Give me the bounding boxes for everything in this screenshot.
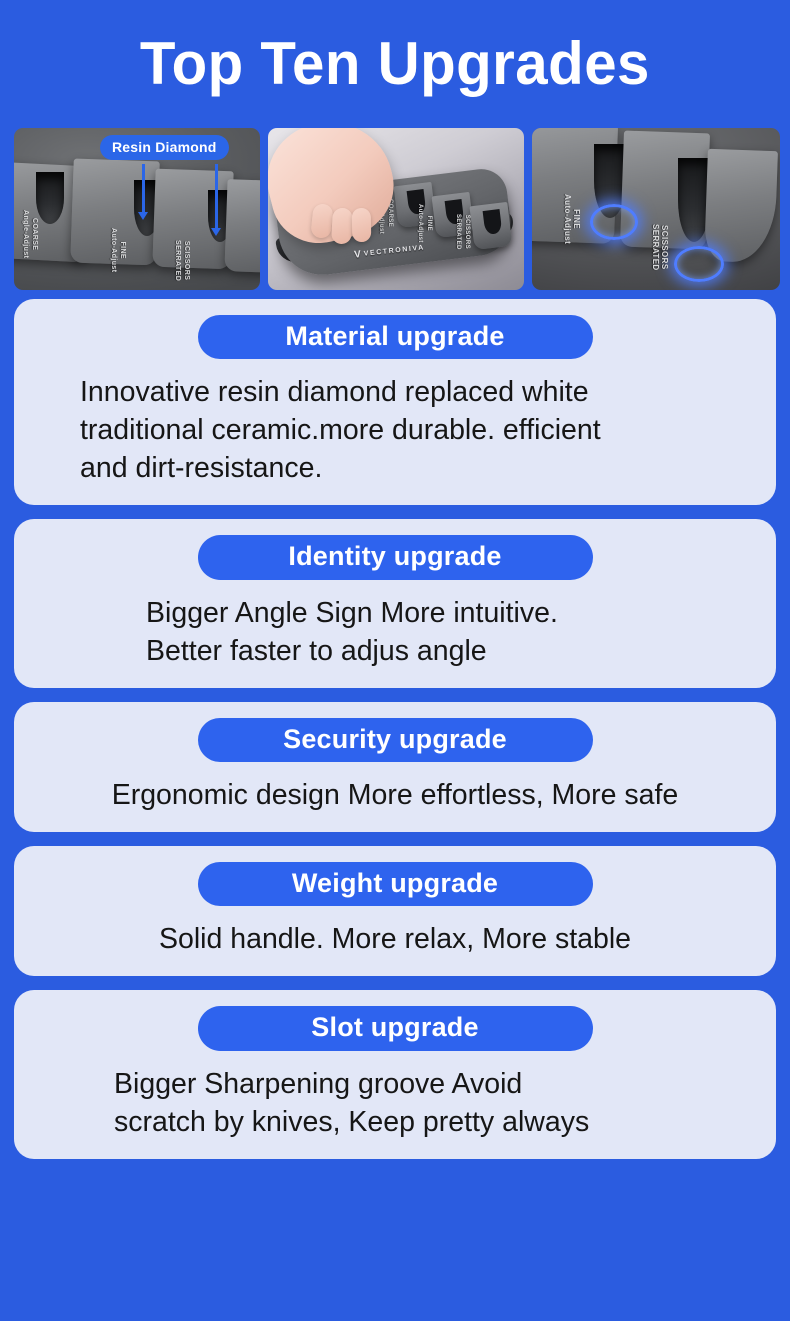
slot-glow-ring [590,204,638,240]
finger [352,208,372,242]
slot-label-fine: FINE Auto-Adjust [109,228,126,272]
upgrade-card-slot: Slot upgrade Bigger Sharpening groove Av… [14,990,776,1158]
photo-slot-closeup: COARSE Angle-Adjust FINE Auto-Adjust SCI… [14,128,260,290]
slot-label-fine: FINE Auto-Adjust [563,194,580,244]
slot-label-scissors: SCISSORS SERRATED [651,224,668,271]
slot-label-fine: FINE Auto-Adjust [416,204,433,243]
badge-pointer-line [142,164,145,216]
upgrade-card-identity: Identity upgrade Bigger Angle Sign More … [14,519,776,687]
card-body-identity: Bigger Angle Sign More intuitive. Better… [14,594,776,670]
card-pill-slot: Slot upgrade [198,1006,593,1050]
card-pill-weight: Weight upgrade [198,862,593,906]
upgrade-card-security: Security upgrade Ergonomic design More e… [14,702,776,832]
brand-v-icon: V [354,249,362,261]
resin-diamond-badge: Resin Diamond [100,135,229,160]
finger [331,208,353,245]
upgrade-card-list: Material upgrade Innovative resin diamon… [0,299,790,1159]
slot-label-coarse: COARSE Angle-Adjust [21,210,38,258]
badge-pointer-line [215,164,218,232]
slot-label-scissors: SCISSORS SERRATED [454,214,471,250]
badge-pointer-arrow [138,212,148,220]
sharpener-slot-coarse [36,172,64,224]
card-pill-material: Material upgrade [198,315,593,359]
card-pill-identity: Identity upgrade [198,535,593,579]
upgrade-card-weight: Weight upgrade Solid handle. More relax,… [14,846,776,976]
slot-glow-ring [674,246,724,282]
photo-glowing-slots: FINE Auto-Adjust SCISSORS SERRATED [532,128,780,290]
card-body-security: Ergonomic design More effortless, More s… [14,776,776,814]
upgrade-card-material: Material upgrade Innovative resin diamon… [14,299,776,505]
card-pill-security: Security upgrade [198,718,593,762]
infographic-page: Top Ten Upgrades COARSE Angle-Adjust FIN… [0,0,790,1321]
page-title: Top Ten Upgrades [140,34,650,94]
photo-hand-holding: COARSE Angle-Adjust FINE Auto-Adjust SCI… [268,128,524,290]
header: Top Ten Upgrades [0,0,790,128]
sharpener-blade-wall [224,179,260,273]
slot-label-scissors: SCISSORS SERRATED [173,240,190,281]
card-body-weight: Solid handle. More relax, More stable [14,920,776,958]
photo-strip: COARSE Angle-Adjust FINE Auto-Adjust SCI… [0,128,790,290]
card-body-material: Innovative resin diamond replaced white … [14,373,776,487]
card-body-slot: Bigger Sharpening groove Avoid scratch b… [14,1065,776,1141]
badge-pointer-arrow [211,228,221,236]
